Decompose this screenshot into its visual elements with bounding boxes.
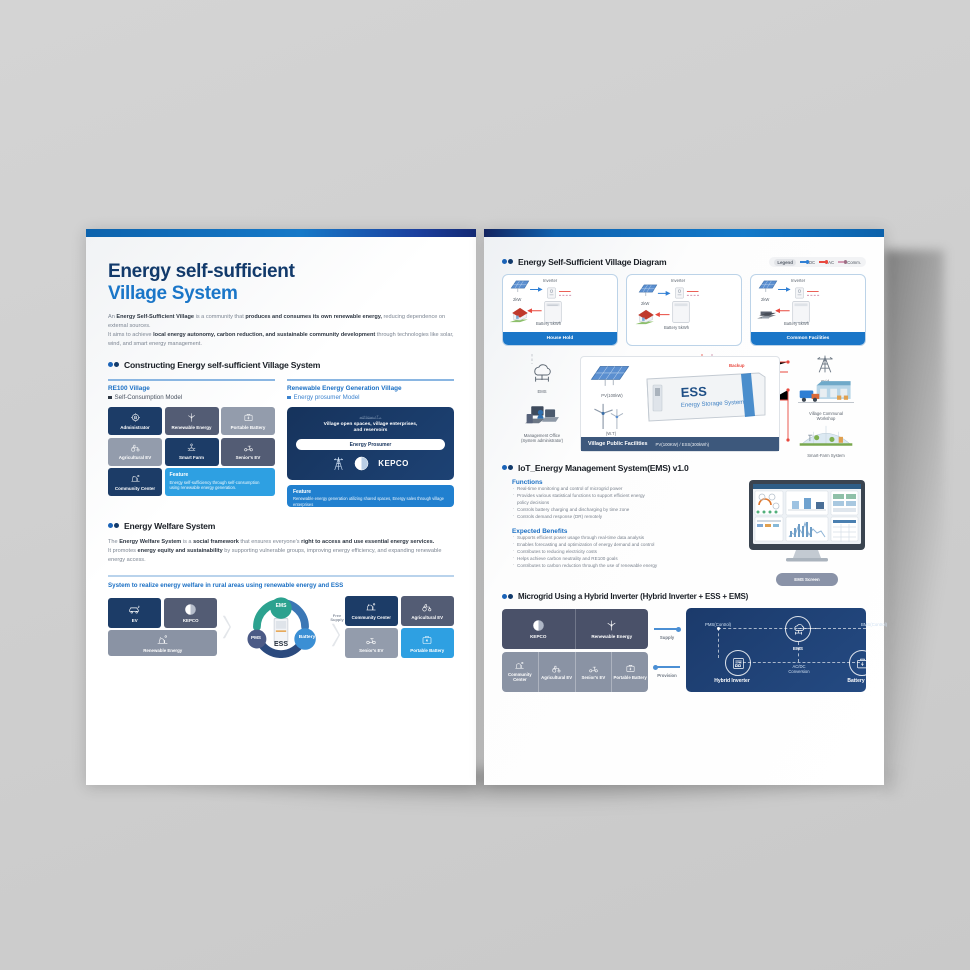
page-shadow-right: [884, 250, 944, 795]
feature-body: Energy self-sufficiency through self-con…: [170, 480, 271, 492]
kepco-logo-icon: [184, 603, 197, 616]
smartfarm-label: Smart-Farm System: [788, 453, 864, 458]
transmission-tower-icon: [332, 456, 345, 471]
renewable-energy-icon: [156, 633, 169, 646]
microgrid-diagram: KEPCO Renewable Energy Community Center: [502, 608, 866, 692]
kepco-row: KEPCO: [332, 456, 408, 471]
chevron-right-icon: [331, 622, 340, 648]
ems-screen-chip: EMS Screen: [776, 573, 838, 586]
page-top-accent-bar-right: [484, 229, 884, 237]
ess-container-icon: ESS Energy Storage System: [641, 369, 769, 427]
wind-turbine-icon: [591, 401, 629, 431]
legend-item-comm: Comm.: [838, 260, 861, 265]
ev-car-icon: [128, 603, 141, 616]
transmission-tower-icon: [814, 354, 836, 374]
tile-label: Smart Farm: [179, 455, 204, 460]
re100-heading: RE100 Village: [108, 385, 275, 392]
village-public-facilities-box: PV(100kW) (W.T): [580, 356, 780, 452]
microgrid-sources-column: KEPCO Renewable Energy Community Center: [502, 609, 648, 692]
household-box-3: 2kW Inverter Battery 5kWh: [750, 274, 866, 346]
wind-turbine-icon: [186, 412, 197, 423]
welfare-divider: [108, 575, 454, 577]
battery-node-label: Battery: [831, 678, 881, 684]
management-office-group: Management Office(System administrator): [502, 400, 582, 444]
village-communal-workshop-icon: [798, 380, 854, 406]
bullet-dots-icon: [502, 594, 513, 600]
vpf-footer: Village Public Facilities PV(100KW) / ES…: [581, 437, 779, 451]
wt-label: (W.T): [591, 431, 631, 436]
tile-label: KEPCO: [530, 634, 546, 639]
ems-node[interactable]: [785, 616, 811, 642]
legend-line-ac-icon: [819, 261, 826, 262]
tile-label: Senior's EV: [359, 648, 383, 653]
tile-label: Agricultural EV: [119, 455, 152, 460]
tractor-icon: [421, 601, 433, 613]
ems-monitor-group: EMS Screen: [748, 479, 866, 586]
household-box-1: 2kW Inverter Battery 5kWh: [502, 274, 618, 346]
tile-portable-battery[interactable]: Portable Battery: [221, 407, 275, 435]
tile-label: Senior's EV: [236, 455, 261, 460]
community-center-icon: [365, 601, 377, 613]
re100-village-column: RE100 Village Self-Consumption Model Adm…: [108, 379, 275, 507]
microgrid-core-panel: PMS(Control) BMS(Control) EMS Hybrid Inv…: [686, 608, 866, 692]
backup-label: Backup: [729, 363, 745, 368]
house-flow-arrows: [627, 275, 741, 331]
tile-label: Community Center: [502, 673, 538, 683]
section-title-text: Energy Self-Sufficient Village Diagram: [518, 257, 666, 267]
section-title-text: Energy Welfare System: [124, 521, 215, 531]
battery-icon: [855, 656, 870, 671]
column-rule: [108, 379, 275, 381]
pms-vertical: [718, 628, 719, 658]
tile-label: Renewable Energy: [171, 425, 211, 430]
pv-label: PV(100kW): [586, 393, 638, 398]
mg-tile-portable-battery[interactable]: Portable Battery: [611, 652, 648, 692]
hybrid-inverter-node[interactable]: [725, 650, 751, 676]
function-item: Controls demand response (DR) remotely: [512, 514, 740, 521]
welfare-flow-diagram: EV KEPCO Renewable Energy: [108, 596, 454, 659]
community-center-icon: [130, 473, 141, 484]
village-public-facilities-diagram: EMS Management Offic: [502, 354, 866, 459]
intro-t4: produces and consumes its own renewable …: [245, 314, 382, 320]
intro-paragraph: An Energy Self-Sufficient Village is a c…: [108, 313, 454, 349]
feature-title: Feature: [293, 489, 448, 495]
bullet-dots-icon: [502, 259, 513, 265]
welfare-recipients-group: Community Center Agricultural EV Senior'…: [345, 596, 454, 659]
function-item: Provides various statistical functions t…: [512, 493, 740, 500]
community-center-icon: [514, 660, 525, 671]
chevron-right-icon: [222, 614, 231, 640]
tractor-icon: [551, 663, 562, 674]
benefits-heading: Expected Benefits: [512, 528, 740, 535]
welfare-paragraph: The Energy Welfare System is a social fr…: [108, 538, 454, 565]
hybrid-inverter-icon: [731, 656, 746, 671]
section-title-text: Constructing Energy self-sufficient Vill…: [124, 360, 320, 370]
brochure: Energy self-sufficient Village System An…: [86, 229, 884, 785]
section-heading-constructing: Constructing Energy self-sufficient Vill…: [108, 360, 454, 370]
provision-arrow-icon: [654, 666, 680, 668]
vpf-spec: PV(100KW) / ESS(300kWh): [656, 442, 710, 447]
tile-agricultural-ev[interactable]: Agricultural EV: [108, 438, 162, 466]
intro-t3: is a community that: [194, 314, 245, 320]
free-supply-label: FreeSupply: [328, 614, 346, 623]
function-item: Controls battery charging and dischargin…: [512, 507, 740, 514]
ess-ring-diagram: EMS PMS Battery ESS: [238, 596, 324, 658]
tile-label: Agricultural EV: [411, 615, 443, 620]
square-bullet-icon: [108, 396, 112, 400]
tile-label: EV: [132, 618, 138, 623]
page-title: Energy self-sufficient Village System: [108, 261, 454, 306]
management-office-label: Management Office(System administrator): [502, 433, 582, 444]
tile-community-center[interactable]: Community Center: [345, 596, 398, 626]
bms-vertical: [876, 628, 877, 658]
workshop-label: Village CommunalWorkshop: [788, 411, 864, 422]
tile-label: Community Center: [352, 615, 391, 620]
ess-node-battery: Battery: [293, 635, 321, 640]
kepco-wordmark: KEPCO: [378, 459, 408, 468]
section-title-text: Microgrid Using a Hybrid Inverter (Hybri…: [518, 592, 748, 601]
village-skyline-icon: [296, 415, 445, 419]
tile-agricultural-ev[interactable]: Agricultural EV: [401, 596, 454, 626]
brochure-page-left: Energy self-sufficient Village System An…: [86, 229, 476, 785]
feature-title: Feature: [170, 472, 271, 478]
welfare-subtitle: System to realize energy welfare in rura…: [108, 582, 454, 589]
feature-body: Renewable energy generation utilizing sh…: [293, 496, 448, 507]
provision-label: Provision: [648, 673, 686, 678]
supply-label: Supply: [648, 635, 686, 640]
tile-seniors-ev[interactable]: Senior's EV: [345, 628, 398, 658]
tile-label: KEPCO: [183, 618, 199, 623]
kepco-logo-icon: [532, 619, 545, 632]
benefit-item: Helps achieve carbon neutrality and RE10…: [512, 556, 740, 563]
svg-text:ESS: ESS: [680, 384, 707, 400]
household-boxes-row: 2kW Inverter Battery 5kWh: [502, 274, 866, 346]
benefit-item: Enables forecasting and optimization of …: [512, 542, 740, 549]
tile-portable-battery[interactable]: Portable Battery: [401, 628, 454, 658]
ems-vertical: [798, 642, 799, 662]
acdc-connector: [738, 662, 860, 663]
prosumer-illustration-panel: Village open spaces, village enterprises…: [287, 407, 454, 480]
tile-label: Community Center: [115, 486, 155, 491]
intro-t7: local energy autonomy, carbon reduction,…: [153, 332, 375, 338]
column-rule: [287, 379, 454, 381]
house-flow-arrows: [751, 275, 865, 331]
legend-item-ac: AC: [819, 260, 834, 265]
legend-line-comm-icon: [838, 261, 845, 262]
ess-container: ESS Energy Storage System: [641, 369, 769, 427]
tile-community-center[interactable]: Community Center: [108, 468, 162, 496]
battery-icon: [421, 634, 433, 646]
tile-administrator[interactable]: Administrator: [108, 407, 162, 435]
scooter-icon: [588, 663, 599, 674]
re100-tile-grid: Administrator Renewable Energy Portable …: [108, 407, 275, 496]
section-heading-welfare: Energy Welfare System: [108, 521, 454, 531]
kepco-logo-icon: [354, 456, 369, 471]
house-flow-arrows: [503, 275, 617, 331]
household-box-2: 2kW Inverter Battery 5kWh: [626, 274, 742, 346]
intro-t2: Energy Self-Sufficient Village: [116, 314, 194, 320]
tile-label: Senior's EV: [582, 676, 606, 681]
intro-t6: It aims to achieve: [108, 332, 153, 338]
acdc-label: AC/DCConversion: [772, 664, 826, 675]
mg-tile-renewable-energy[interactable]: Renewable Energy: [575, 609, 649, 649]
ess-center-label: ESS: [267, 641, 295, 648]
tile-smart-farm[interactable]: Smart Farm: [165, 438, 219, 466]
mg-tile-community-center[interactable]: Community Center: [502, 652, 538, 692]
tile-label: Portable Battery: [231, 425, 266, 430]
tile-label: Portable Battery: [410, 648, 444, 653]
page-title-line2: Village System: [108, 283, 454, 305]
bullet-dots-icon: [108, 523, 119, 529]
ems-text-column: Functions Real-time monitoring and contr…: [502, 479, 740, 586]
prosumer-village-column: Renewable Energy Generation Village Ener…: [287, 379, 454, 507]
household-footer-label: [627, 332, 741, 345]
tile-label: Portable Battery: [614, 676, 647, 681]
brochure-page-right: Energy Self-Sufficient Village Diagram L…: [484, 229, 884, 785]
tile-kepco[interactable]: KEPCO: [164, 598, 217, 628]
prosumer-heading: Renewable Energy Generation Village: [287, 385, 454, 392]
ems-cloud-icon: [791, 622, 806, 636]
vpf-title: Village Public Facilities: [588, 441, 648, 447]
section-heading-ems: IoT_Energy Management System(EMS) v1.0: [502, 463, 866, 473]
flow-arrow-in: [217, 614, 236, 640]
mg-tile-kepco[interactable]: KEPCO: [502, 609, 575, 649]
flow-arrow-out: FreeSupply: [326, 606, 345, 648]
legend-item-dc: DC: [800, 260, 815, 265]
mg-tile-seniors-ev[interactable]: Senior's EV: [575, 652, 612, 692]
section-heading-microgrid: Microgrid Using a Hybrid Inverter (Hybri…: [502, 592, 866, 601]
scooter-icon: [243, 442, 254, 453]
welfare-sources-group: EV KEPCO Renewable Energy: [108, 598, 217, 657]
tile-label: Renewable Energy: [143, 648, 182, 653]
ess-node-pms: PMS: [244, 635, 268, 640]
ems-cloud-icon: [528, 360, 556, 384]
square-bullet-icon: [287, 396, 291, 400]
microgrid-provision-group: Community Center Agricultural EV Senior'…: [502, 652, 648, 692]
smart-farm-system-icon: [798, 424, 854, 448]
battery-node[interactable]: [849, 650, 875, 676]
re100-feature-box: Feature Energy self-sufficiency through …: [165, 468, 276, 496]
scooter-icon: [365, 634, 377, 646]
pv-array-icon: [589, 363, 631, 391]
tile-label: Administrator: [120, 425, 150, 430]
supply-arrow-icon: [654, 628, 680, 630]
bullet-dots-icon: [502, 465, 513, 471]
ems-label: EMS: [510, 389, 574, 394]
diagram-legend: Legend DC AC Comm.: [769, 257, 866, 267]
battery-icon: [625, 663, 636, 674]
tile-label: Renewable Energy: [591, 634, 632, 639]
ems-section-body: Functions Real-time monitoring and contr…: [502, 479, 866, 586]
functions-heading: Functions: [512, 479, 740, 486]
legend-label: Legend: [774, 259, 796, 266]
tile-ev[interactable]: EV: [108, 598, 161, 628]
hybrid-inverter-label: Hybrid Inverter: [707, 678, 757, 684]
function-item: Real-time monitoring and control of micr…: [512, 486, 740, 493]
page-top-accent-bar-left: [86, 229, 476, 237]
tile-renewable-energy[interactable]: Renewable Energy: [108, 630, 217, 656]
battery-icon: [243, 412, 254, 423]
section-heading-village-diagram: Energy Self-Sufficient Village Diagram L…: [502, 257, 866, 267]
ems-cloud-group: EMS: [510, 360, 574, 394]
bms-control-label: BMS(Control): [846, 622, 902, 627]
function-item-cont: policy decisions: [512, 500, 740, 507]
management-office-icon: [522, 400, 562, 428]
ems-node-label: EMS: [773, 646, 823, 651]
tile-seniors-ev[interactable]: Senior's EV: [221, 438, 275, 466]
scene: Energy self-sufficient Village System An…: [0, 0, 970, 970]
household-footer-label: House Hold: [503, 332, 617, 345]
prosumer-subheading: Energy prosumer Model: [287, 394, 454, 401]
bullet-dots-icon: [108, 362, 119, 368]
household-footer-label: Common Facilities: [751, 332, 865, 345]
prosumer-feature-box: Feature Renewable energy generation util…: [287, 485, 454, 507]
smart-farm-icon: [186, 442, 197, 453]
workshop-group: Village CommunalWorkshop: [788, 380, 864, 422]
tile-renewable-energy[interactable]: Renewable Energy: [165, 407, 219, 435]
energy-prosumer-pill[interactable]: Energy Prosumer: [296, 439, 445, 450]
microgrid-flow-arrows: Supply Provision: [648, 608, 686, 692]
page-title-line1: Energy self-sufficient: [108, 261, 295, 282]
benefit-item: Contributes to carbon reduction through …: [512, 563, 740, 570]
mg-tile-agricultural-ev[interactable]: Agricultural EV: [538, 652, 575, 692]
ems-monitor-icon: [748, 479, 866, 565]
section-title-text: IoT_Energy Management System(EMS) v1.0: [518, 463, 689, 473]
wind-turbine-icon: [605, 619, 618, 632]
village-models-columns: RE100 Village Self-Consumption Model Adm…: [108, 379, 454, 507]
tile-label: Agricultural EV: [541, 676, 572, 681]
benefit-item: Contributes to reducing electricity cost…: [512, 549, 740, 556]
re100-subheading: Self-Consumption Model: [108, 394, 275, 401]
smart-farm-group: Smart-Farm System: [788, 424, 864, 458]
pms-control-label: PMS(Control): [690, 622, 746, 627]
legend-line-dc-icon: [800, 261, 807, 262]
gear-person-icon: [130, 412, 141, 423]
prosumer-caption: Village open spaces, village enterprises…: [324, 422, 418, 435]
benefit-item: Supports efficient power usage through r…: [512, 535, 740, 542]
tractor-icon: [130, 442, 141, 453]
ess-node-ems: EMS: [267, 603, 295, 609]
microgrid-supply-group: KEPCO Renewable Energy: [502, 609, 648, 649]
